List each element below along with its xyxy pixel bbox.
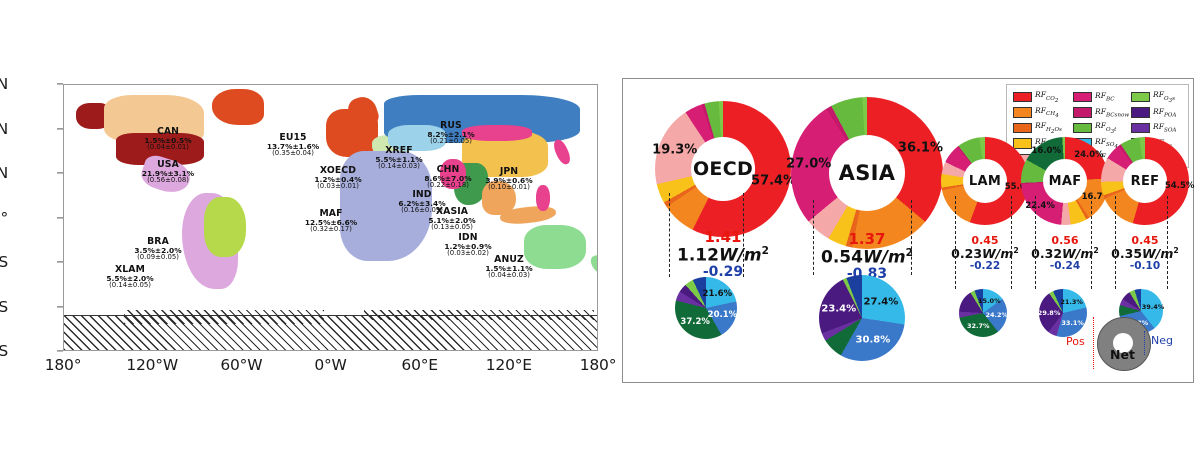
legend-swatch-bc: [1073, 92, 1092, 103]
map-ytick-0: 90°N: [0, 75, 8, 93]
donut-hole-asia: ASIA: [829, 135, 905, 211]
group-name-oecd: OECD: [693, 158, 753, 180]
land-greenland: [212, 89, 264, 125]
pie-label-lam-so4: 15.0%: [978, 297, 1001, 305]
legend-item-bc[interactable]: RFBC: [1073, 89, 1129, 105]
land-philippines: [536, 185, 550, 211]
legend-swatch-o3s: [1131, 92, 1150, 103]
connector-line-ref-1: [1167, 196, 1168, 289]
map-plot-area: [63, 84, 598, 351]
pie-label-lam-lcc: 32.7%: [967, 322, 990, 330]
net-forcing-maf: 0.32W/m2: [1031, 247, 1099, 261]
legend-text-bc: RFBC: [1095, 91, 1115, 103]
donut-label-oecd-xhalo: 19.3%: [652, 142, 697, 157]
negative-pie-asia[interactable]: [819, 275, 905, 361]
connector-line-oecd-0: [669, 193, 670, 277]
map-xtick-2: 60°W: [196, 356, 286, 374]
donut-hole-oecd: OECD: [691, 137, 755, 201]
legend-text-co2: RFCO2: [1035, 90, 1058, 104]
pie-label-oecd-so4: 21.6%: [703, 289, 733, 299]
pie-label-lam-no3: 24.2%: [986, 311, 1009, 319]
pie-label-asia-poa: 23.4%: [821, 303, 856, 314]
land-newzealand: [588, 253, 598, 275]
land-brazil: [204, 197, 246, 257]
neg-label: Neg: [1151, 334, 1173, 347]
legend-swatch-bcsnow: [1073, 107, 1092, 118]
map-ytick-3: 0°: [0, 209, 8, 227]
net-forcing-lam: 0.23W/m2: [951, 247, 1019, 261]
map-xtick-5: 120°E: [464, 356, 554, 374]
donut-hole-ref: REF: [1123, 159, 1167, 203]
figure-root: 90°N60°N30°N0°30°S60°S90°S 180°120°W60°W…: [0, 0, 1200, 466]
negative-forcing-ref: -0.10: [1111, 261, 1179, 273]
connector-line-ref-0: [1115, 196, 1116, 289]
donut-oecd[interactable]: OECD: [655, 101, 791, 237]
map-xtick-0: 180°: [18, 356, 108, 374]
legend-text-o3t: RFO3t: [1095, 121, 1116, 135]
legend-swatch-ch4: [1013, 107, 1032, 118]
donut-label-oecd-co2: 57.4%: [751, 173, 796, 188]
net-label: Net: [1110, 347, 1135, 362]
group-name-asia: ASIA: [839, 161, 896, 185]
donut-label-maf-co2: 24.0%: [1074, 150, 1104, 160]
legend-swatch-soa: [1131, 123, 1150, 134]
map-ytick-1: 60°N: [0, 120, 8, 138]
group-name-ref: REF: [1131, 174, 1160, 189]
donut-label-ref-co2: 54.5%: [1165, 181, 1195, 191]
legend-swatch-poa: [1131, 107, 1150, 118]
legend-text-soa: RFSOA: [1153, 122, 1176, 134]
net-forcing-oecd: 1.12W/m2: [677, 246, 769, 266]
legend-text-h2os: RFH2Os: [1035, 121, 1062, 135]
legend-item-poa[interactable]: RFPOA: [1131, 105, 1179, 121]
connector-line-maf-0: [1035, 196, 1036, 289]
net-forcing-value: 1.12: [677, 245, 719, 265]
net-forcing-value: 0.54: [821, 247, 863, 267]
land-xasia: [440, 159, 466, 189]
pos-label: Pos: [1066, 335, 1085, 348]
donut-label-maf-lcc: 16.0%: [1031, 146, 1061, 156]
land-australia: [524, 225, 586, 269]
pos-extent-bar: [1093, 317, 1094, 369]
map-xtick-3: 0°W: [286, 356, 376, 374]
values-oecd: 1.411.12W/m2-0.29: [677, 229, 769, 281]
net-forcing-ref: 0.35W/m2: [1111, 247, 1179, 261]
values-lam: 0.450.23W/m2-0.22: [951, 235, 1019, 273]
land-africa-middleeast: [340, 151, 432, 261]
donut-label-asia-bc: 27.0%: [786, 156, 831, 171]
land-xref: [388, 125, 446, 151]
legend-swatch-h2os: [1013, 123, 1032, 134]
land-japan: [551, 138, 573, 167]
map-xtick-4: 60°E: [375, 356, 465, 374]
net-forcing-asia: 0.54W/m2: [821, 248, 913, 268]
neg-extent-bar: [1144, 331, 1145, 355]
map-xtick-1: 120°W: [107, 356, 197, 374]
negative-forcing-oecd: -0.29: [677, 265, 769, 281]
radiative-forcing-panel: RFCO2RFCH4RFH2OsRFN2ORFXhalo RFBCRFBCsno…: [622, 78, 1194, 383]
legend-swatch-co2: [1013, 92, 1032, 103]
legend-swatch-o3t: [1073, 123, 1092, 134]
pie-label-ref-so4: 39.4%: [1142, 303, 1165, 311]
map-ytick-5: 60°S: [0, 298, 8, 316]
positive-forcing-oecd: 1.41: [677, 229, 769, 246]
pie-label-maf-so4: 21.3%: [1060, 298, 1083, 306]
connector-line-maf-1: [1091, 196, 1092, 289]
pie-label-maf-no3: 33.1%: [1061, 319, 1084, 327]
pie-label-asia-so4: 27.4%: [864, 296, 899, 307]
connector-line-lam-1: [1011, 196, 1012, 289]
legend-item-soa[interactable]: RFSOA: [1131, 120, 1179, 136]
map-ytick-6: 90°S: [0, 342, 8, 360]
legend-text-poa: RFPOA: [1153, 107, 1176, 119]
values-ref: 0.450.35W/m2-0.10: [1111, 235, 1179, 273]
donut-label-asia-co2: 36.1%: [898, 141, 943, 156]
map-ytick-2: 30°N: [0, 164, 8, 182]
negative-pie-oecd[interactable]: [675, 277, 737, 339]
positive-forcing-asia: 1.37: [821, 231, 913, 248]
legend-text-o3s: RFO3s: [1153, 90, 1175, 104]
pie-label-oecd-lcc: 37.2%: [680, 317, 710, 327]
donut-hole-lam: LAM: [963, 159, 1007, 203]
pie-label-oecd-no3: 20.1%: [708, 310, 738, 320]
connector-line-asia-0: [813, 200, 814, 275]
legend-item-h2os[interactable]: RFH2Os: [1013, 120, 1062, 136]
negative-forcing-maf: -0.24: [1031, 261, 1099, 273]
land-mongolia-strip: [462, 125, 532, 141]
pie-label-asia-no3: 30.8%: [856, 335, 891, 346]
legend-text-ch4: RFCH4: [1035, 106, 1059, 120]
legend-item-o3s[interactable]: RFO3s: [1131, 89, 1179, 105]
antarctica-hatch: [64, 315, 597, 350]
donut-hole-maf: MAF: [1043, 159, 1087, 203]
legend-item-o3t[interactable]: RFO3t: [1073, 120, 1129, 136]
connector-line-asia-1: [911, 200, 912, 275]
legend-item-bcsnow[interactable]: RFBCsnow: [1073, 105, 1129, 121]
pie-label-maf-poa: 29.8%: [1038, 309, 1061, 317]
legend-item-ch4[interactable]: RFCH4: [1013, 105, 1062, 121]
values-maf: 0.560.32W/m2-0.24: [1031, 235, 1099, 273]
connector-line-lam-0: [955, 196, 956, 289]
map-ytick-4: 30°S: [0, 253, 8, 271]
donut-label-maf-bc: 22.4%: [1025, 201, 1055, 211]
legend-text-bcsnow: RFBCsnow: [1095, 107, 1129, 119]
world-map-panel: 90°N60°N30°N0°30°S60°S90°S 180°120°W60°W…: [0, 0, 614, 466]
group-name-maf: MAF: [1049, 174, 1082, 189]
connector-line-oecd-1: [743, 193, 744, 277]
group-name-lam: LAM: [969, 174, 1001, 189]
negative-forcing-lam: -0.22: [951, 261, 1019, 273]
legend-swatch-n2o: [1013, 138, 1032, 149]
legend-item-co2[interactable]: RFCO2: [1013, 89, 1062, 105]
